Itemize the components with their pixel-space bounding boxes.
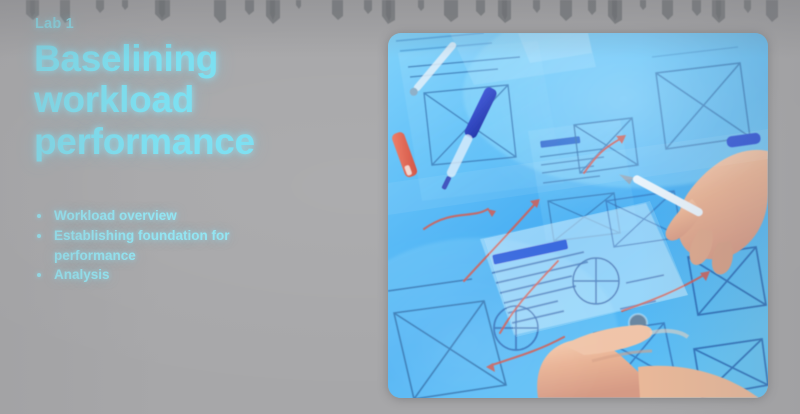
lab-eyebrow-label: Lab 1 <box>35 16 364 32</box>
list-item: Analysis <box>32 266 362 284</box>
wireframe-desk-photo <box>388 33 768 398</box>
list-item: Establishing foundation for <box>32 227 362 245</box>
list-item: Workload overview <box>32 207 362 225</box>
page-title: Baselining workload performance <box>34 38 364 162</box>
title-line-1: Baselining <box>34 38 364 79</box>
title-line-3: performance <box>34 121 364 162</box>
title-line-2: workload <box>34 79 364 120</box>
bullet-list: Workload overview Establishing foundatio… <box>32 207 362 286</box>
slide-text-column: Lab 1 Baselining workload performance <box>34 16 364 162</box>
list-item-continuation: performance <box>32 247 362 265</box>
slide-photo <box>388 33 768 398</box>
presentation-slide: Lab 1 Baselining workload performance Wo… <box>0 0 800 414</box>
